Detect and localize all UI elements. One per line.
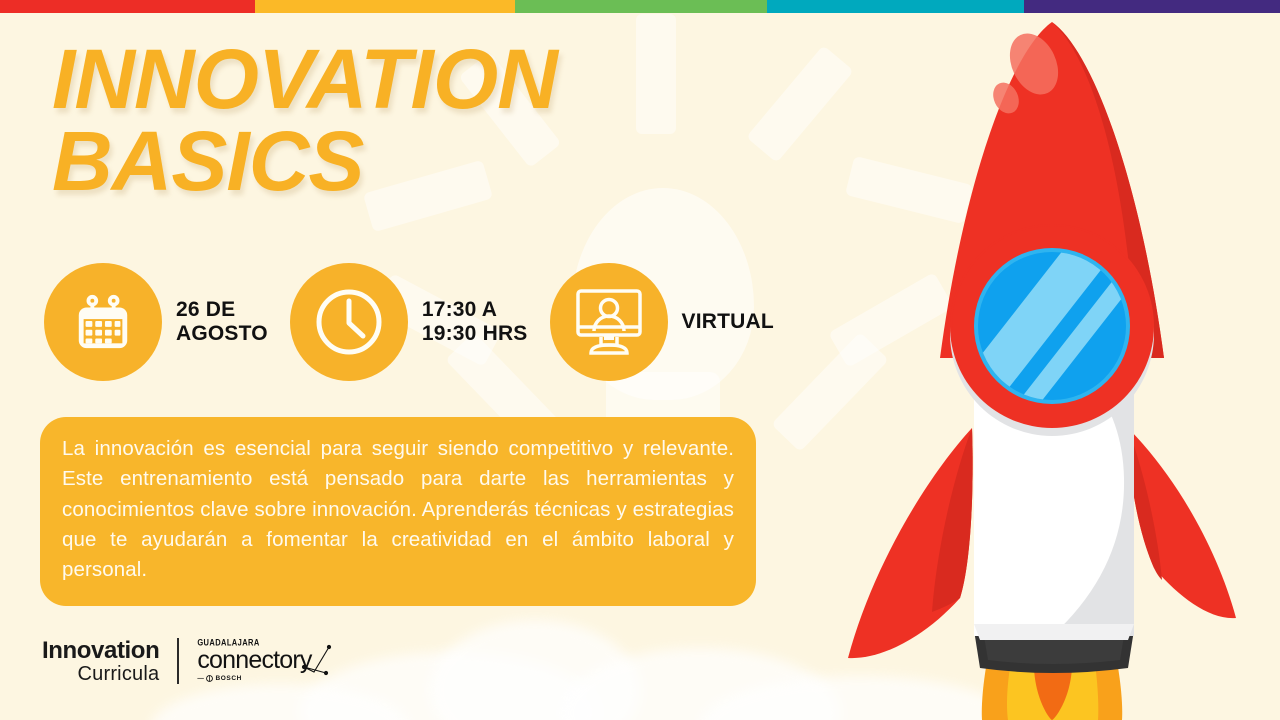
logo-divider bbox=[177, 638, 179, 684]
footer-logos: Innovation Curricula GUADALAJARA connect… bbox=[42, 638, 312, 684]
bosch-wordmark: BOSCH bbox=[215, 676, 241, 683]
color-segment-orange bbox=[255, 0, 515, 13]
cloud-shape bbox=[150, 684, 410, 720]
color-segment-purple bbox=[1024, 0, 1280, 13]
logo-connectory-name: connectory bbox=[197, 648, 311, 673]
logo-line-curricula: Curricula bbox=[42, 664, 159, 684]
event-info-row: 26 DE AGOSTO 17:30 A 19:30 HRS bbox=[44, 263, 796, 381]
info-label-modality: VIRTUAL bbox=[682, 310, 774, 334]
rocket-launch-illustration bbox=[776, 8, 1280, 720]
webcam-monitor-icon bbox=[573, 287, 645, 357]
clock-icon-badge bbox=[290, 263, 408, 381]
rocket-fin-left bbox=[848, 428, 973, 658]
rocket-fin-right bbox=[1128, 428, 1236, 618]
info-item-time: 17:30 A 19:30 HRS bbox=[290, 263, 550, 381]
ray-shape bbox=[636, 14, 676, 134]
cloud-shape bbox=[300, 652, 600, 720]
clock-icon bbox=[311, 284, 387, 360]
description-box: La innovación es esencial para seguir si… bbox=[40, 417, 756, 606]
logo-line-innovation: Innovation bbox=[42, 639, 159, 663]
poster-canvas: INNOVATION BASICS bbox=[0, 0, 1280, 720]
logo-city-label: GUADALAJARA bbox=[197, 638, 311, 647]
webcam-monitor-icon-badge bbox=[550, 263, 668, 381]
bosch-mark-icon bbox=[206, 675, 213, 682]
cloud-shape bbox=[430, 620, 640, 720]
info-label-time: 17:30 A 19:30 HRS bbox=[422, 298, 528, 346]
color-segment-green bbox=[515, 0, 767, 13]
info-label-date: 26 DE AGOSTO bbox=[176, 298, 268, 346]
calendar-icon bbox=[72, 291, 134, 353]
info-item-modality: VIRTUAL bbox=[550, 263, 796, 381]
color-segment-red bbox=[0, 0, 255, 13]
description-text: La innovación es esencial para seguir si… bbox=[62, 434, 734, 586]
page-title: INNOVATION BASICS bbox=[52, 38, 557, 203]
logo-bosch-line: — BOSCH bbox=[197, 675, 311, 682]
network-nodes-icon bbox=[300, 644, 334, 678]
innovation-curricula-logo: Innovation Curricula bbox=[42, 639, 159, 684]
calendar-icon-badge bbox=[44, 263, 162, 381]
info-item-date: 26 DE AGOSTO bbox=[44, 263, 290, 381]
top-color-bar bbox=[0, 0, 1280, 13]
color-segment-teal bbox=[767, 0, 1024, 13]
bosch-prefix-dash: — bbox=[197, 676, 204, 683]
guadalajara-connectory-logo: GUADALAJARA connectory — BOSCH bbox=[197, 640, 311, 683]
